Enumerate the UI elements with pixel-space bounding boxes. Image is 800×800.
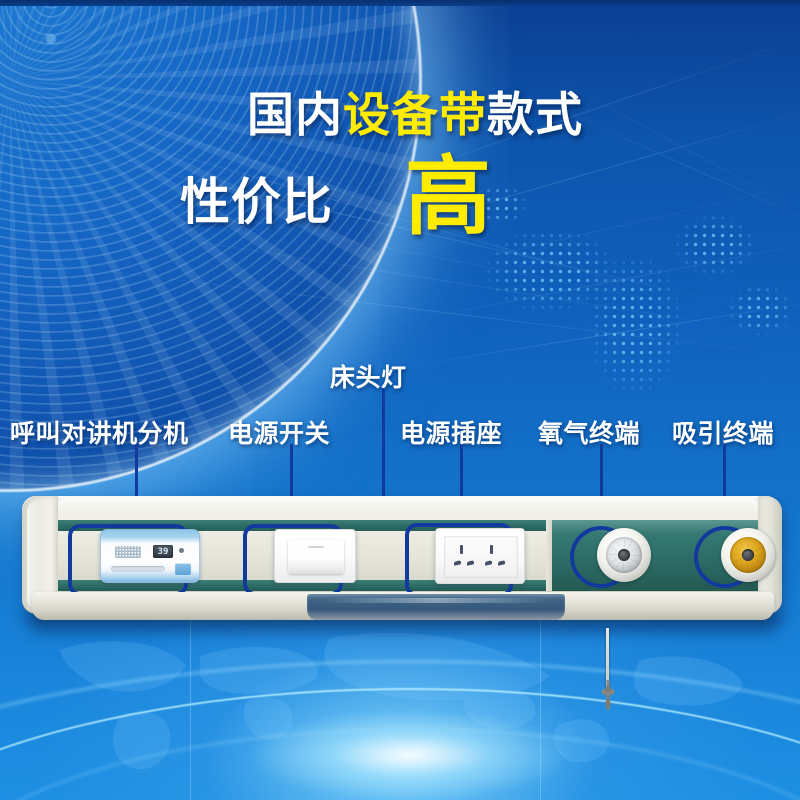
suction-socket-face [730,537,766,573]
socket-slot-b2 [498,560,505,565]
socket-slot-a2 [467,560,474,565]
suction-core [742,549,754,561]
socket-pin-a1 [460,545,463,554]
power-socket[interactable] [435,528,525,584]
intercom-slot [111,566,165,572]
oxygen-core [618,549,630,561]
suction-terminal[interactable] [721,528,775,582]
socket-pin-b1 [490,545,493,554]
bedlamp-pull-hook-icon[interactable] [596,680,620,712]
panel-rail-dark-section [307,594,565,620]
poster-canvas: 国内设备带款式 性价比 高 呼叫对讲机分机电源开关床头灯电源插座氧气终端吸引终端… [0,0,800,800]
switch-rocker[interactable] [288,540,344,574]
intercom-display: 39 [153,545,173,558]
socket-slot-b1 [485,560,492,565]
oxygen-terminal[interactable] [597,528,651,582]
socket-slot-a1 [454,560,461,565]
oxygen-socket-face [606,537,642,573]
highlight-box-layer [0,0,800,800]
intercom-call-button[interactable] [175,563,191,575]
speaker-grille-icon [115,546,141,558]
nurse-call-intercom[interactable]: 39 [100,529,200,583]
power-switch[interactable] [274,529,356,583]
panel-top-highlight [58,498,758,512]
socket-face [444,536,518,578]
status-led-icon [179,548,184,553]
